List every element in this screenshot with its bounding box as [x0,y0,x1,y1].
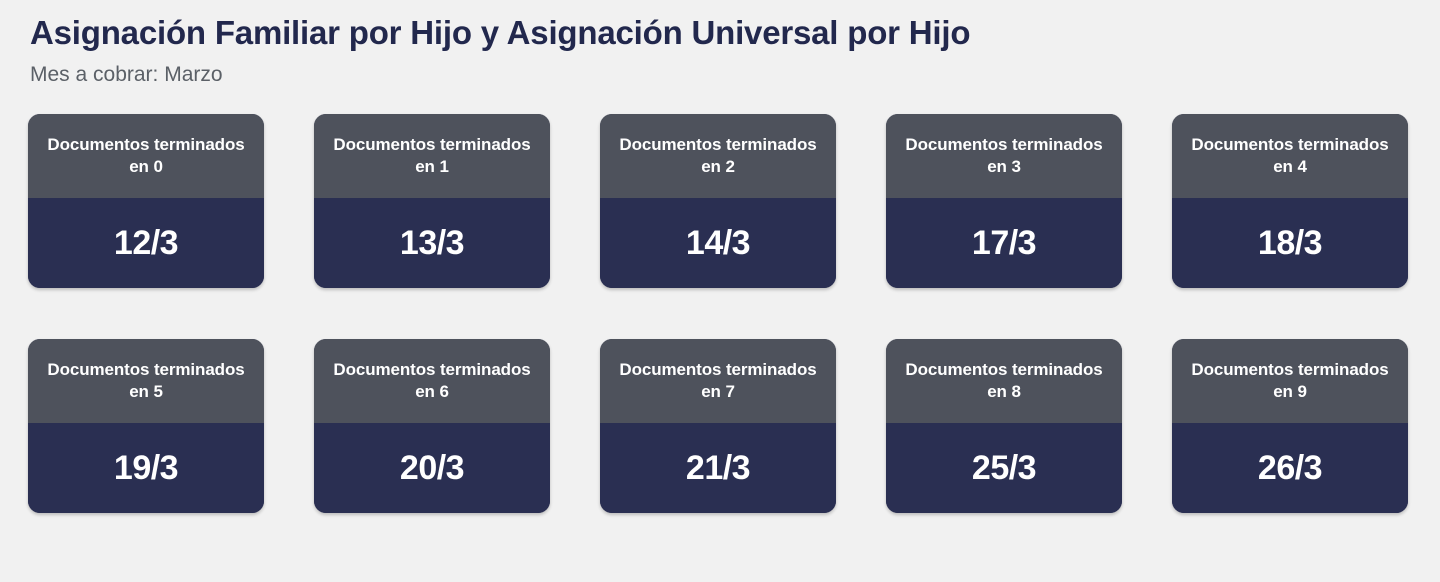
schedule-card-header: Documentos terminados en 1 [314,114,550,198]
schedule-card-label: Documentos terminados en 3 [896,134,1112,179]
schedule-card-body: 19/3 [28,423,264,513]
schedule-card-body: 21/3 [600,423,836,513]
payment-schedule-page: Asignación Familiar por Hijo y Asignació… [0,0,1440,582]
schedule-card-date: 12/3 [114,226,178,260]
schedule-card: Documentos terminados en 926/3 [1172,339,1408,513]
schedule-card: Documentos terminados en 721/3 [600,339,836,513]
schedule-card-date: 13/3 [400,226,464,260]
schedule-card-body: 14/3 [600,198,836,288]
schedule-card-date: 14/3 [686,226,750,260]
page-header: Asignación Familiar por Hijo y Asignació… [0,0,1440,87]
schedule-card: Documentos terminados en 012/3 [28,114,264,288]
schedule-card-label: Documentos terminados en 4 [1182,134,1398,179]
schedule-card-header: Documentos terminados en 4 [1172,114,1408,198]
schedule-card-grid: Documentos terminados en 012/3Documentos… [0,114,1440,513]
schedule-card-label: Documentos terminados en 6 [324,359,540,404]
schedule-card-header: Documentos terminados en 7 [600,339,836,423]
schedule-card: Documentos terminados en 317/3 [886,114,1122,288]
schedule-card: Documentos terminados en 825/3 [886,339,1122,513]
schedule-card-header: Documentos terminados en 2 [600,114,836,198]
schedule-card-date: 20/3 [400,451,464,485]
schedule-card: Documentos terminados en 214/3 [600,114,836,288]
schedule-card-body: 13/3 [314,198,550,288]
schedule-card-label: Documentos terminados en 5 [38,359,254,404]
schedule-card-date: 17/3 [972,226,1036,260]
schedule-card-label: Documentos terminados en 9 [1182,359,1398,404]
schedule-card-header: Documentos terminados en 5 [28,339,264,423]
schedule-card-header: Documentos terminados en 8 [886,339,1122,423]
schedule-card: Documentos terminados en 418/3 [1172,114,1408,288]
schedule-card-body: 17/3 [886,198,1122,288]
schedule-card-date: 19/3 [114,451,178,485]
schedule-card-header: Documentos terminados en 9 [1172,339,1408,423]
schedule-card-body: 20/3 [314,423,550,513]
schedule-card: Documentos terminados en 519/3 [28,339,264,513]
schedule-card-body: 18/3 [1172,198,1408,288]
schedule-card-date: 25/3 [972,451,1036,485]
payment-month-subtitle: Mes a cobrar: Marzo [30,62,1440,87]
schedule-card-date: 18/3 [1258,226,1322,260]
schedule-card-body: 26/3 [1172,423,1408,513]
schedule-card-date: 21/3 [686,451,750,485]
schedule-card-label: Documentos terminados en 7 [610,359,826,404]
schedule-card-header: Documentos terminados en 6 [314,339,550,423]
page-title: Asignación Familiar por Hijo y Asignació… [30,12,1440,53]
schedule-card-body: 12/3 [28,198,264,288]
schedule-card-date: 26/3 [1258,451,1322,485]
schedule-card: Documentos terminados en 113/3 [314,114,550,288]
schedule-card: Documentos terminados en 620/3 [314,339,550,513]
schedule-card-label: Documentos terminados en 1 [324,134,540,179]
schedule-card-label: Documentos terminados en 8 [896,359,1112,404]
schedule-card-header: Documentos terminados en 0 [28,114,264,198]
schedule-card-header: Documentos terminados en 3 [886,114,1122,198]
schedule-card-label: Documentos terminados en 0 [38,134,254,179]
schedule-card-body: 25/3 [886,423,1122,513]
schedule-card-label: Documentos terminados en 2 [610,134,826,179]
